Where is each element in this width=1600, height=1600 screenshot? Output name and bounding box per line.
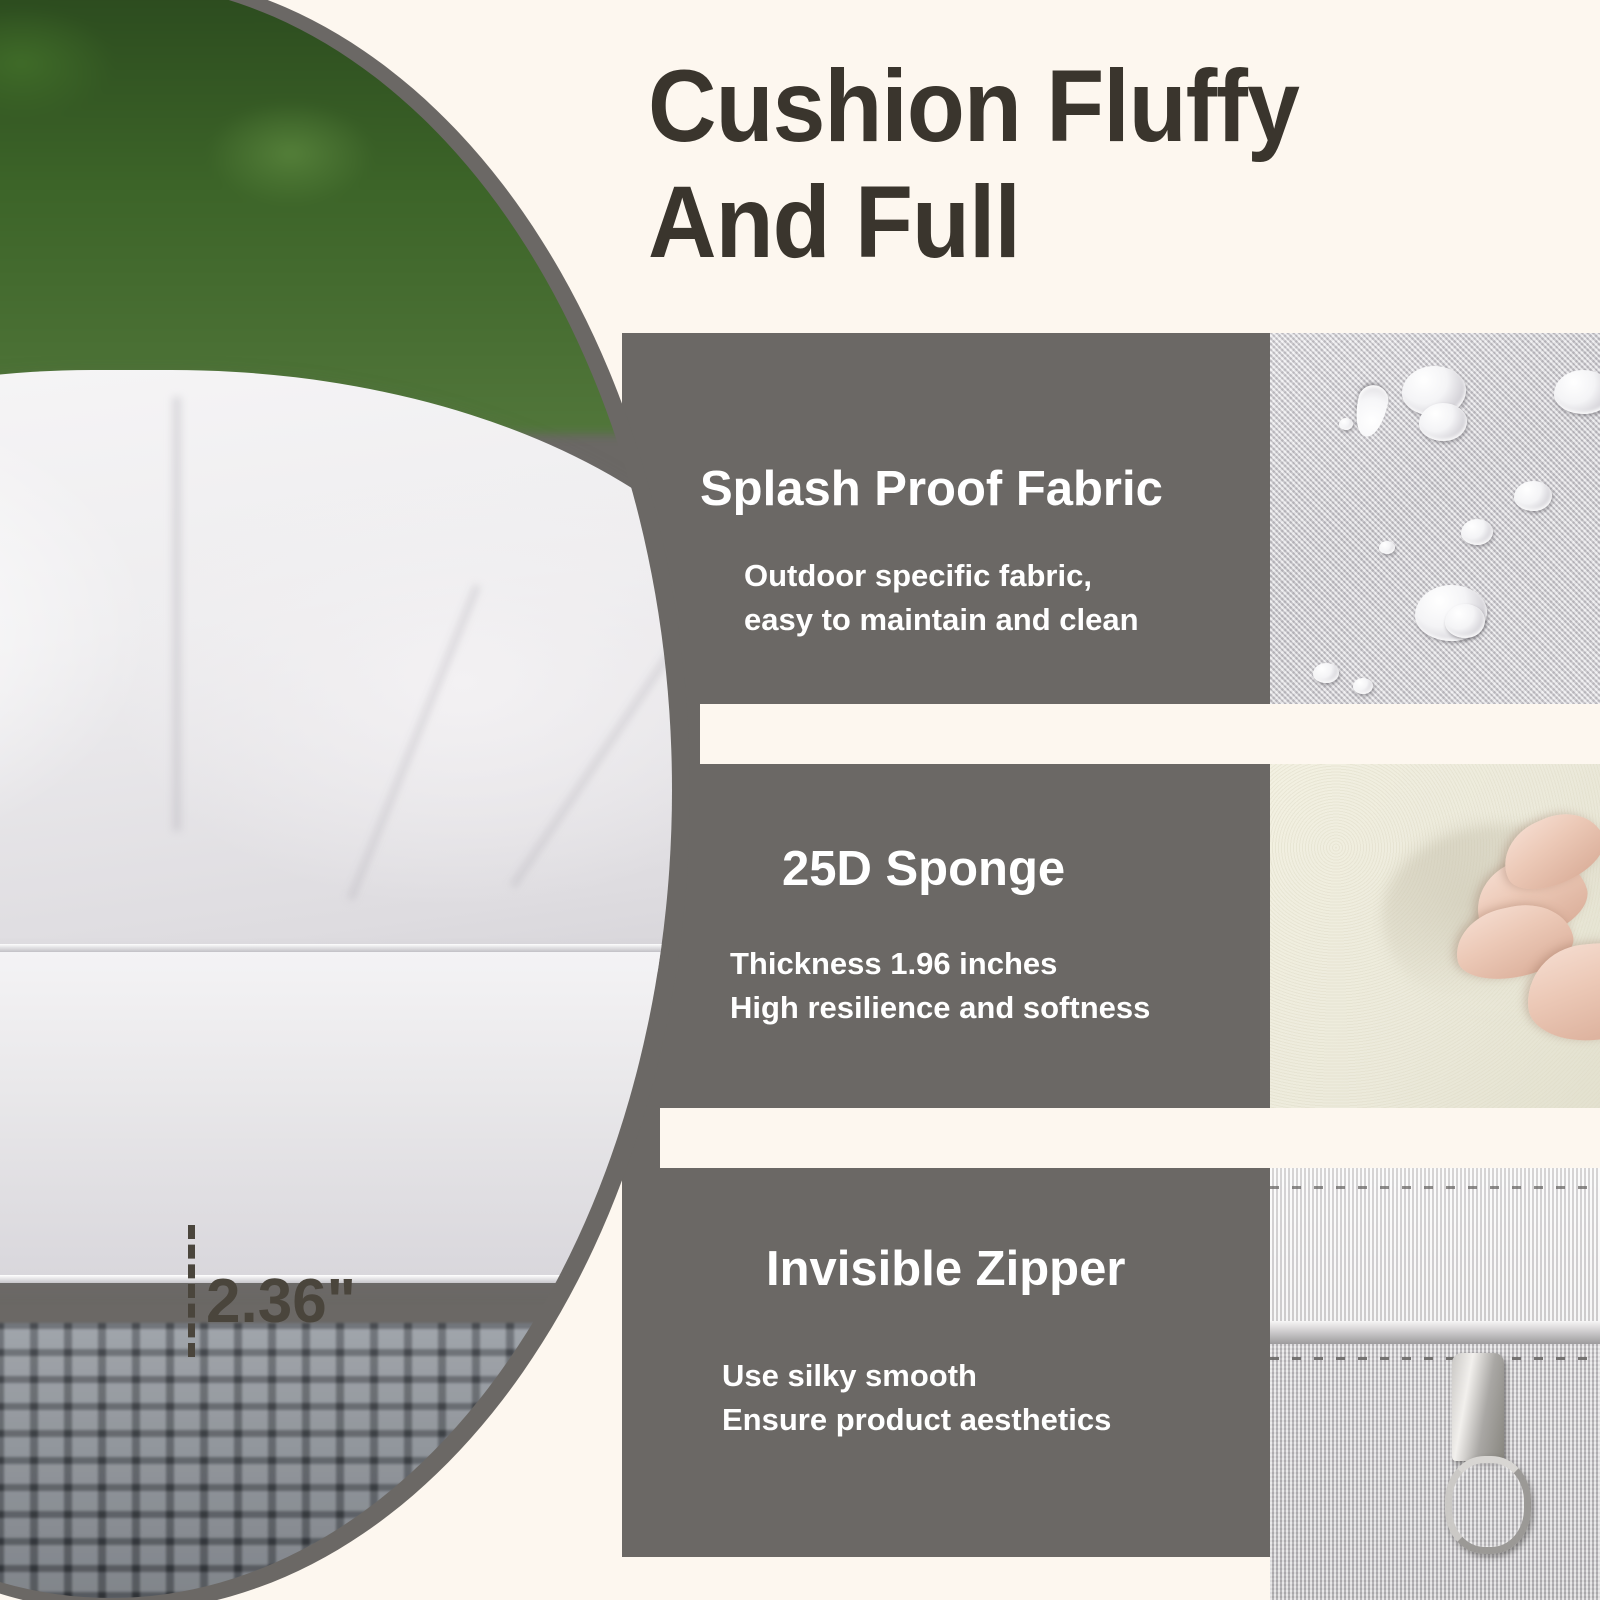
splash-proof-fabric-photo bbox=[1270, 333, 1600, 704]
zipper-pull-icon bbox=[1452, 1353, 1504, 1461]
lower-fabric-weave bbox=[1270, 1344, 1600, 1600]
feature-heading: 25D Sponge bbox=[782, 840, 1150, 898]
feature-divider bbox=[660, 1108, 1600, 1168]
feature-subtext-line: Use silky smooth bbox=[722, 1354, 1125, 1398]
zipper-tape-line bbox=[1270, 1357, 1600, 1360]
zipper-ring-icon bbox=[1445, 1456, 1531, 1554]
feature-subtext-line: Ensure product aesthetics bbox=[722, 1398, 1125, 1442]
feature-25d-sponge: 25D Sponge Thickness 1.96 inches High re… bbox=[730, 840, 1150, 1030]
feature-subtext: Outdoor specific fabric, easy to maintai… bbox=[744, 554, 1163, 642]
dimension-label: 2.36" bbox=[206, 1271, 356, 1333]
infographic-canvas: Splash Proof Fabric Outdoor specific fab… bbox=[0, 0, 1600, 1600]
water-droplet-icon bbox=[1419, 403, 1467, 441]
water-droplet-icon bbox=[1445, 604, 1485, 638]
water-droplet-icon bbox=[1379, 541, 1395, 554]
cushion-tuft-seam bbox=[508, 624, 672, 888]
feature-subtext-line: Thickness 1.96 inches bbox=[730, 942, 1150, 986]
cushion-tuft-seam bbox=[171, 397, 183, 831]
feature-heading: Splash Proof Fabric bbox=[700, 460, 1163, 518]
feature-subtext-line: High resilience and softness bbox=[730, 986, 1150, 1030]
dimension-dashed-line bbox=[188, 1225, 195, 1357]
page-title: Cushion Fluffy And Full bbox=[648, 48, 1548, 280]
fabric-fold-edge bbox=[1270, 1321, 1600, 1344]
stitch-line bbox=[1270, 1186, 1600, 1189]
seat-cushion bbox=[0, 952, 672, 1275]
cushion-photo bbox=[0, 0, 672, 1598]
page-title-line-2: And Full bbox=[648, 164, 1485, 280]
water-droplet-icon bbox=[1313, 663, 1339, 683]
upper-fabric-weave bbox=[1270, 1150, 1600, 1339]
feature-invisible-zipper: Invisible Zipper Use silky smooth Ensure… bbox=[722, 1240, 1125, 1442]
page-title-line-1: Cushion Fluffy bbox=[648, 48, 1485, 164]
feature-divider bbox=[700, 704, 1600, 764]
feature-subtext: Thickness 1.96 inches High resilience an… bbox=[730, 942, 1150, 1030]
feature-subtext-line: Outdoor specific fabric, bbox=[744, 554, 1163, 598]
feature-splash-proof-fabric: Splash Proof Fabric Outdoor specific fab… bbox=[700, 460, 1163, 642]
feature-subtext-line: easy to maintain and clean bbox=[744, 598, 1163, 642]
hero-photo-circle bbox=[0, 0, 672, 1598]
water-droplet-icon bbox=[1461, 519, 1493, 545]
invisible-zipper-photo bbox=[1270, 1150, 1600, 1600]
cushion-tuft-seam bbox=[346, 584, 482, 902]
wicker-base bbox=[0, 1323, 672, 1598]
water-droplet-icon bbox=[1353, 678, 1373, 694]
seat-piping-top bbox=[0, 944, 672, 952]
feature-heading: Invisible Zipper bbox=[766, 1240, 1125, 1298]
sponge-foam-photo bbox=[1270, 736, 1600, 1108]
feature-subtext: Use silky smooth Ensure product aestheti… bbox=[722, 1354, 1125, 1442]
